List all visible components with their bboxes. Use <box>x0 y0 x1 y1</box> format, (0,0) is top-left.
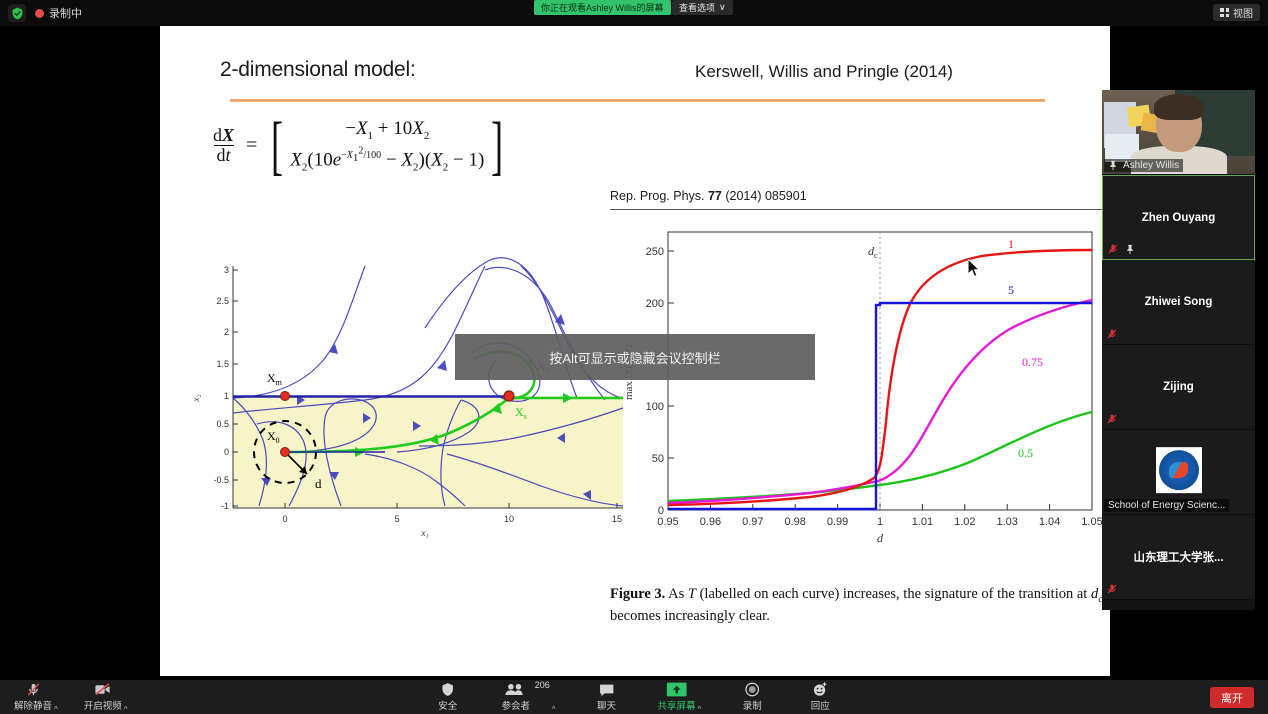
participants-count: 206 <box>535 680 550 690</box>
participant-tile-ashley-willis[interactable]: Ashley Willis <box>1102 90 1255 175</box>
svg-text:0.99: 0.99 <box>827 516 848 528</box>
video-button-group[interactable]: 开启视频 ^ <box>84 680 128 714</box>
university-logo-icon <box>1159 450 1199 490</box>
share-screen-icon <box>667 682 687 697</box>
svg-text:50: 50 <box>652 453 664 465</box>
top-bar: 录制中 你正在观看Ashley Willis的屏幕 查看选项 ∨ 视图 <box>0 0 1268 26</box>
record-button[interactable]: 录制 <box>735 680 769 714</box>
shield-check-icon[interactable] <box>8 4 26 22</box>
shield-icon <box>441 682 455 697</box>
mic-off-icon <box>1107 243 1119 255</box>
security-button[interactable]: 安全 <box>431 680 465 714</box>
svg-text:0.95: 0.95 <box>657 516 678 528</box>
view-button[interactable]: 视图 <box>1213 4 1260 21</box>
participant-tile-zijing[interactable]: Zijing <box>1102 345 1255 430</box>
svg-text:1.05: 1.05 <box>1081 516 1102 528</box>
svg-text:3: 3 <box>224 265 229 275</box>
leave-meeting-button[interactable]: 离开 <box>1210 687 1254 708</box>
equals-sign: = <box>246 134 257 157</box>
curve-label-0p75: 0.75 <box>1022 355 1043 369</box>
phase-ylabel: x₂ <box>191 394 201 402</box>
participant-tile-zhiwei-song[interactable]: Zhiwei Song <box>1102 260 1255 345</box>
participants-button-group[interactable]: 参会者 206 ^ <box>499 680 556 714</box>
svg-text:2.5: 2.5 <box>216 296 229 306</box>
leave-label: 离开 <box>1221 690 1243 706</box>
pin-icon[interactable] <box>1125 244 1136 255</box>
mic-off-icon <box>1106 583 1118 595</box>
svg-text:-1: -1 <box>221 501 229 511</box>
screen-share-banner-text: 你正在观看Ashley Willis的屏幕 <box>541 1 664 14</box>
unmute-label: 解除静音 <box>14 698 52 712</box>
svg-text:0: 0 <box>224 447 229 457</box>
chevron-up-icon[interactable]: ^ <box>698 705 702 714</box>
svg-text:0: 0 <box>282 514 287 524</box>
participant-name: Zhen Ouyang <box>1103 212 1254 224</box>
page-title: 2-dimensional model: <box>220 58 416 82</box>
svg-text:0.5: 0.5 <box>216 419 229 429</box>
mic-off-icon <box>1106 328 1118 340</box>
curve-label-1: 1 <box>1008 237 1014 251</box>
participant-strip[interactable]: Ashley Willis Zhen Ouyang Zhiwei Song <box>1102 90 1255 610</box>
svg-text:200: 200 <box>646 298 664 310</box>
reactions-label: 回应 <box>811 698 830 712</box>
meeting-stage: 2-dimensional model: Kerswell, Willis an… <box>0 0 1268 680</box>
figure-caption-text: As T (labelled on each curve) increases,… <box>610 586 1102 624</box>
tile-status-icons <box>1106 583 1118 595</box>
participants-button[interactable]: 参会者 <box>499 680 533 714</box>
reactions-button[interactable]: 回应 <box>803 680 837 714</box>
curve-label-0p5: 0.5 <box>1018 446 1033 460</box>
journal-suffix: (2014) 085901 <box>722 189 807 203</box>
figure-caption-label: Figure 3. <box>610 586 665 602</box>
mouse-cursor <box>968 259 982 279</box>
curve-label-5: 5 <box>1008 283 1014 297</box>
xs-marker <box>504 391 514 401</box>
svg-text:-0.5: -0.5 <box>213 475 229 485</box>
bracket-right-icon: ] <box>491 121 503 171</box>
chat-button[interactable]: 聊天 <box>590 680 624 714</box>
participant-tile-school-of-energy[interactable]: School of Energy Scienc... <box>1102 430 1255 515</box>
security-label: 安全 <box>438 698 457 712</box>
view-button-label: 视图 <box>1233 5 1253 20</box>
journal-volume: 77 <box>708 189 722 203</box>
mic-off-icon <box>1106 413 1118 425</box>
svg-text:1: 1 <box>224 391 229 401</box>
phase-portrait-svg: 3 2.5 2 1.5 1 0.5 0 -0.5 -1 0 5 10 <box>185 248 645 538</box>
record-icon <box>745 682 760 697</box>
derivative-fraction: dX dt <box>210 126 237 165</box>
svg-text:1.04: 1.04 <box>1039 516 1060 528</box>
unmute-button[interactable]: 解除静音 <box>14 680 52 714</box>
video-off-icon <box>94 682 111 697</box>
svg-text:5: 5 <box>394 514 399 524</box>
matrix-body: −X1 + 10X2 X2(10e−X12/100 − X2)(X2 − 1) <box>288 118 486 173</box>
share-screen-label: 共享屏幕 <box>658 698 696 712</box>
alt-hint-tooltip: 按Alt可显示或隐藏会议控制栏 <box>455 334 815 380</box>
toolbar-left-group: 解除静音 ^ 开启视频 ^ <box>14 680 128 714</box>
svg-text:0.97: 0.97 <box>742 516 763 528</box>
derivative-numerator: dX <box>210 126 237 145</box>
view-options-label: 查看选项 <box>679 1 715 14</box>
xm-label: Xm <box>267 371 283 387</box>
toolbar-center-group: 安全 参会者 206 ^ <box>431 680 838 714</box>
derivative-denominator: dt <box>214 145 234 165</box>
phase-xlabel: x₁ <box>420 528 428 538</box>
svg-text:250: 250 <box>646 246 664 258</box>
participant-name: Ashley Willis <box>1123 160 1179 171</box>
svg-text:1.01: 1.01 <box>912 516 933 528</box>
tile-status-icons <box>1106 328 1118 340</box>
grid-icon <box>1220 8 1229 17</box>
svg-text:100: 100 <box>646 401 664 413</box>
matrix-row-1: −X1 + 10X2 <box>345 118 429 142</box>
title-divider <box>230 99 1045 102</box>
alt-hint-text: 按Alt可显示或隐藏会议控制栏 <box>549 348 720 367</box>
pin-icon <box>1108 160 1119 171</box>
svg-text:1.02: 1.02 <box>954 516 975 528</box>
phase-portrait-figure: 3 2.5 2 1.5 1 0.5 0 -0.5 -1 0 5 10 <box>185 248 645 538</box>
participant-name-badge: School of Energy Scienc... <box>1104 499 1229 512</box>
participant-name: 山东理工大学张... <box>1102 549 1255 565</box>
record-dot-icon[interactable]: 录制中 <box>35 5 82 21</box>
participants-label: 参会者 <box>501 698 530 712</box>
chevron-up-icon[interactable]: ^ <box>124 705 128 714</box>
participants-icon <box>505 682 527 697</box>
tile-status-icons <box>1106 413 1118 425</box>
bracket-left-icon: [ <box>271 121 283 171</box>
matrix-row-2: X2(10e−X12/100 − X2)(X2 − 1) <box>290 146 484 173</box>
chat-label: 聊天 <box>597 698 616 712</box>
chat-icon <box>599 682 615 697</box>
record-dot <box>35 9 44 18</box>
slide-citation: Kerswell, Willis and Pringle (2014) <box>695 62 953 82</box>
recording-indicator-group: 录制中 <box>8 4 82 22</box>
zoom-meeting-window: 录制中 你正在观看Ashley Willis的屏幕 查看选项 ∨ 视图 2-di… <box>0 0 1268 714</box>
share-screen-button-group[interactable]: 共享屏幕 ^ <box>658 680 702 714</box>
transition-xlabel: d <box>877 531 884 545</box>
screen-share-banner: 你正在观看Ashley Willis的屏幕 <box>534 0 671 15</box>
x0-marker <box>281 448 290 457</box>
reactions-icon <box>813 682 828 697</box>
meeting-toolbar: 解除静音 ^ 开启视频 ^ <box>0 680 1268 714</box>
start-video-label: 开启视频 <box>84 698 122 712</box>
participant-name: School of Energy Scienc... <box>1108 500 1225 511</box>
journal-prefix: Rep. Prog. Phys. <box>610 189 708 203</box>
transition-figure: 250 200 150 100 50 0 0.95 0.96 0.97 0.98… <box>610 222 1110 567</box>
record-label: 录制 <box>743 698 762 712</box>
chevron-up-icon[interactable]: ^ <box>552 705 556 714</box>
share-screen-button[interactable]: 共享屏幕 <box>658 680 696 714</box>
participant-name-badge: Ashley Willis <box>1104 159 1183 172</box>
participant-tile-shandong[interactable]: 山东理工大学张... <box>1102 515 1255 600</box>
chevron-down-icon: ∨ <box>719 2 726 13</box>
svg-text:2: 2 <box>224 327 229 337</box>
transition-svg: 250 200 150 100 50 0 0.95 0.96 0.97 0.98… <box>610 222 1110 567</box>
avatar <box>1156 447 1202 493</box>
recording-label: 录制中 <box>49 5 82 21</box>
participant-tile-zhen-ouyang[interactable]: Zhen Ouyang <box>1102 175 1255 260</box>
participant-name: Zhiwei Song <box>1102 296 1255 308</box>
journal-reference: Rep. Prog. Phys. 77 (2014) 085901 <box>610 189 1110 203</box>
participant-name: Zijing <box>1102 381 1255 393</box>
svg-text:0.96: 0.96 <box>700 516 721 528</box>
mic-off-icon <box>26 682 41 697</box>
model-equation: dX dt = [ −X1 + 10X2 X2(10e−X12/100 − X2… <box>210 118 508 173</box>
start-video-button[interactable]: 开启视频 <box>84 680 122 714</box>
d-label: d <box>315 476 322 491</box>
svg-text:10: 10 <box>504 514 514 524</box>
svg-text:1.5: 1.5 <box>216 359 229 369</box>
svg-text:1: 1 <box>877 516 883 528</box>
figure-caption: Figure 3. As T (labelled on each curve) … <box>610 585 1105 626</box>
tile-status-icons <box>1107 243 1136 255</box>
view-options-button[interactable]: 查看选项 ∨ <box>672 0 733 15</box>
xm-marker <box>281 392 290 401</box>
chevron-up-icon[interactable]: ^ <box>54 705 58 714</box>
svg-text:1.03: 1.03 <box>996 516 1017 528</box>
journal-divider <box>610 209 1110 210</box>
mute-button-group[interactable]: 解除静音 ^ <box>14 680 58 714</box>
svg-text:0.98: 0.98 <box>784 516 805 528</box>
